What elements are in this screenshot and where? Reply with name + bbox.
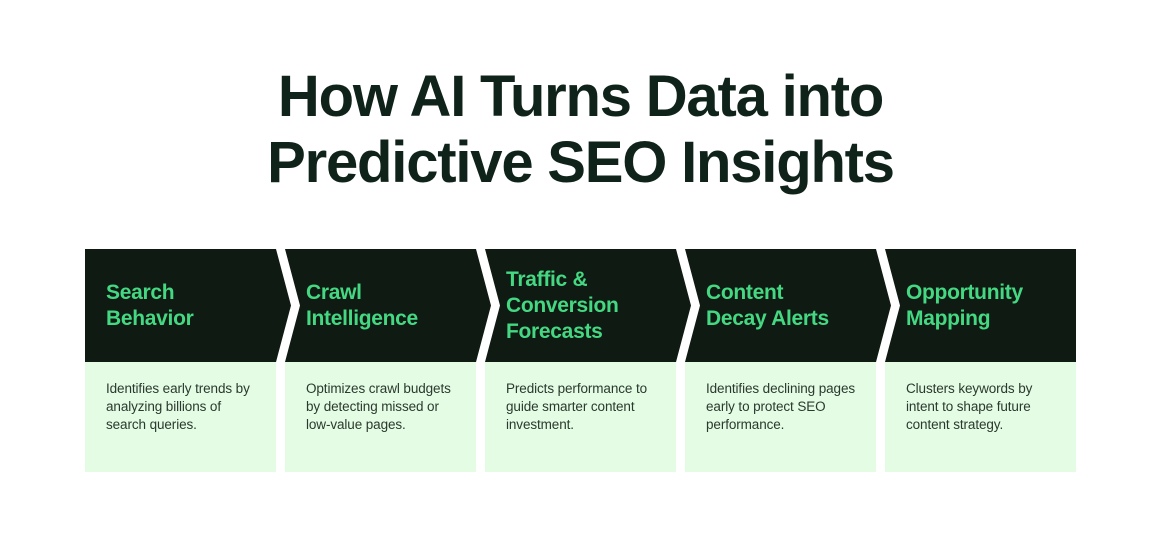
flow-step-5-body: Clusters keywords by intent to shape fut…: [885, 362, 1076, 472]
flow-step-2-body: Optimizes crawl budgets by detecting mis…: [285, 362, 476, 472]
page-title-line-1: How AI Turns Data into: [0, 64, 1161, 130]
flow-step-5-description: Clusters keywords by intent to shape fut…: [906, 380, 1060, 434]
flow-step-2: Crawl Intelligence Optimizes crawl budge…: [285, 249, 476, 472]
flow-step-2-description: Optimizes crawl budgets by detecting mis…: [306, 380, 460, 434]
flow-step-5: Opportunity Mapping Clusters keywords by…: [885, 249, 1076, 472]
infographic-canvas: How AI Turns Data into Predictive SEO In…: [0, 0, 1161, 552]
flow-step-2-header: Crawl Intelligence: [285, 249, 491, 362]
flow-step-3-title: Traffic & Conversion Forecasts: [485, 267, 633, 345]
flow-step-1-title: Search Behavior: [85, 280, 207, 332]
flow-step-1-body: Identifies early trends by analyzing bil…: [85, 362, 276, 472]
flow-step-4-description: Identifies declining pages early to prot…: [706, 380, 860, 434]
page-title: How AI Turns Data into Predictive SEO In…: [0, 64, 1161, 196]
flow-step-5-title: Opportunity Mapping: [885, 280, 1037, 332]
process-flow-row: Search Behavior Identifies early trends …: [85, 249, 1076, 472]
flow-step-4: Content Decay Alerts Identifies declinin…: [685, 249, 876, 472]
flow-step-1-description: Identifies early trends by analyzing bil…: [106, 380, 260, 434]
flow-step-3-header: Traffic & Conversion Forecasts: [485, 249, 691, 362]
flow-step-3: Traffic & Conversion Forecasts Predicts …: [485, 249, 676, 472]
flow-step-3-body: Predicts performance to guide smarter co…: [485, 362, 676, 472]
flow-step-4-body: Identifies declining pages early to prot…: [685, 362, 876, 472]
flow-step-4-title: Content Decay Alerts: [685, 280, 843, 332]
flow-step-1-header: Search Behavior: [85, 249, 291, 362]
flow-step-5-header: Opportunity Mapping: [885, 249, 1076, 362]
page-title-line-2: Predictive SEO Insights: [0, 130, 1161, 196]
flow-step-3-description: Predicts performance to guide smarter co…: [506, 380, 660, 434]
flow-step-1: Search Behavior Identifies early trends …: [85, 249, 276, 472]
flow-step-2-title: Crawl Intelligence: [285, 280, 432, 332]
flow-step-4-header: Content Decay Alerts: [685, 249, 891, 362]
